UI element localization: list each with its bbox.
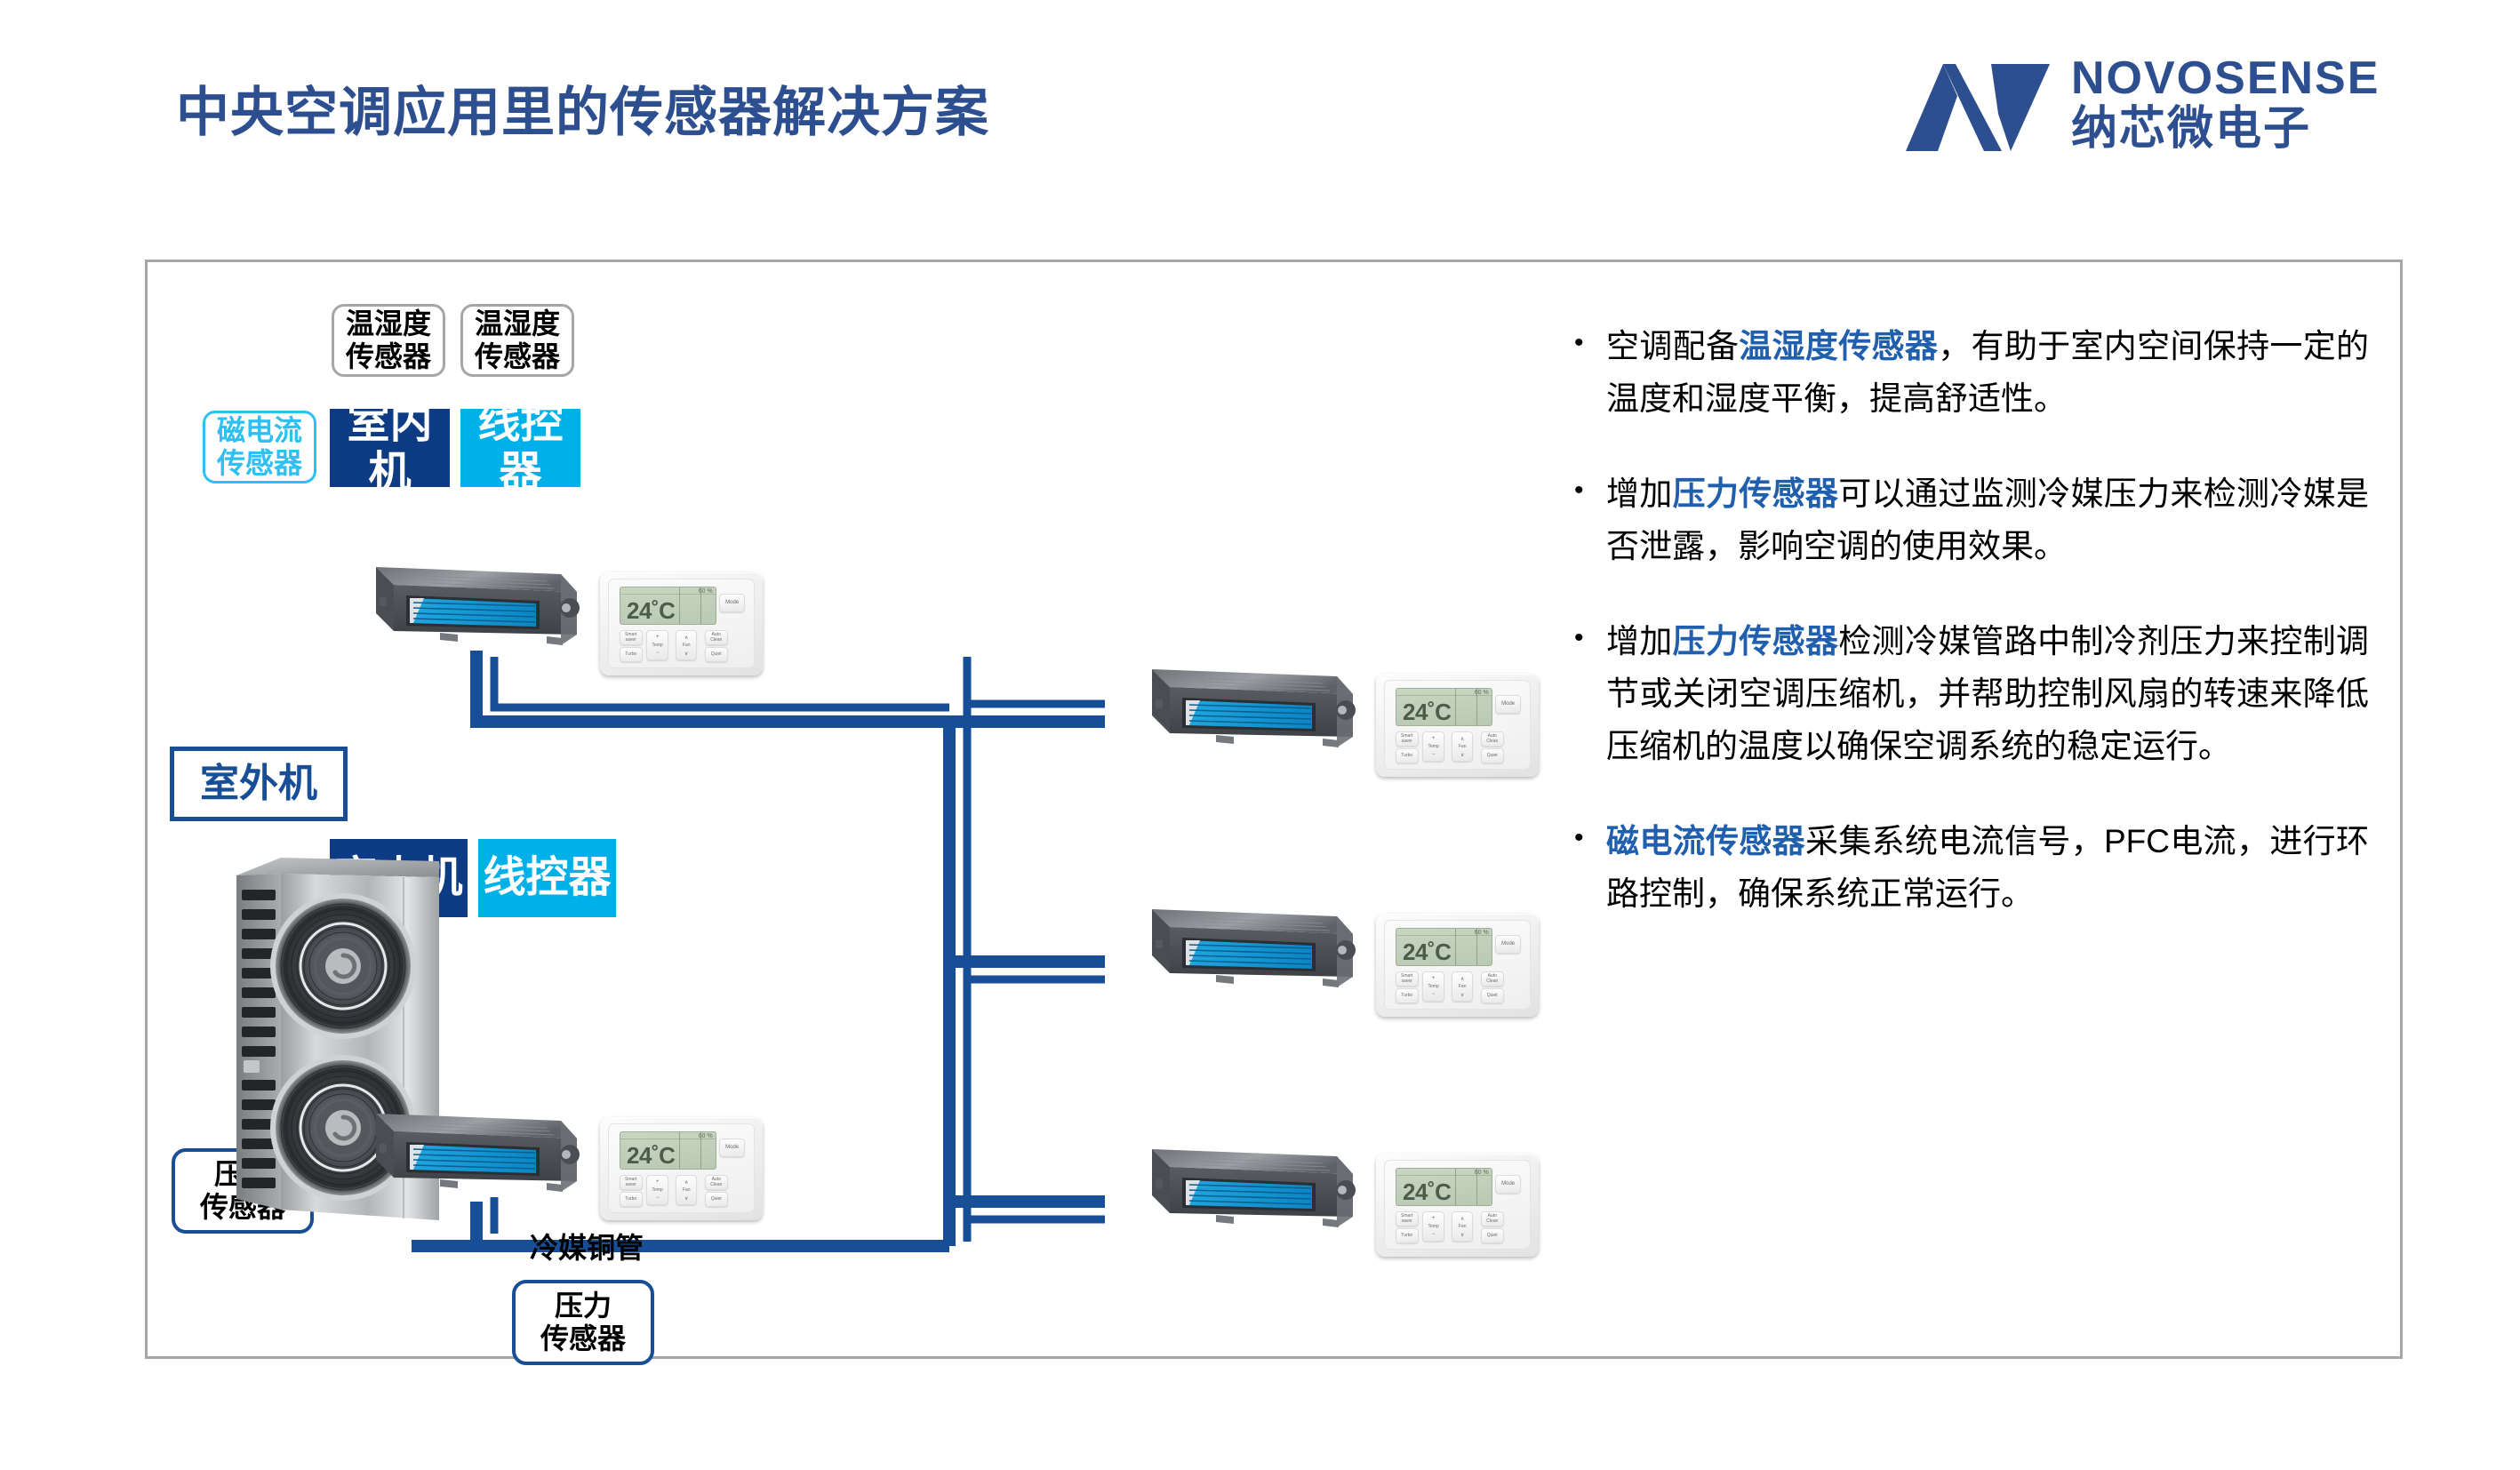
bullet-text: 空调配备温湿度传感器，有助于室内空间保持一定的温度和湿度平衡，提高舒适性。 [1606,320,2369,425]
ducted-indoor-unit [1100,904,1358,1002]
logo-chinese: 纳芯微电子 [2071,103,2380,155]
bullet-dot-icon: • [1569,815,1606,920]
plain-text: 空调配备 [1606,328,1739,364]
fan-up-icon[interactable]: ∧ [1460,736,1464,742]
turbo-button[interactable]: Turbo [1396,1228,1419,1243]
bullet-dot-icon: • [1569,615,1606,772]
temp-up-icon[interactable]: + [656,1179,660,1185]
temp-stepper[interactable]: + Temp − [1422,1211,1444,1242]
temp-down-icon[interactable]: − [656,1195,660,1201]
temp-up-icon[interactable]: + [1432,736,1436,741]
auto-clean-button[interactable]: Auto Clean [705,630,728,645]
wired-controller[interactable]: 60 % 24˚C Mode Smart saver Turbo + Temp … [1376,674,1539,777]
hvac-system-diagram: 温湿度 传感器 温湿度 传感器 磁电流 传感器 室内机 线控器 室内机 线控器 … [145,260,1532,1359]
thermostat-body: 60 % 24˚C Mode Smart saver Turbo + Temp … [1384,1160,1531,1250]
fan-down-icon[interactable]: ∨ [1460,1232,1464,1238]
fan-label: Fan [1459,744,1467,749]
turbo-button[interactable]: Turbo [620,1192,643,1207]
list-item: • 增加压力传感器可以通过监测冷媒压力来检测冷媒是否泄露，影响空调的使用效果。 [1569,467,2369,572]
mode-button[interactable]: Mode [719,594,746,612]
ducted-indoor-unit [324,1108,582,1206]
lcd-humidity: 60 % [1475,930,1489,936]
fan-down-icon[interactable]: ∨ [684,651,688,657]
ducted-indoor-unit [1100,664,1358,762]
temp-stepper[interactable]: + Temp − [646,1175,668,1205]
ducted-indoor-unit [324,562,582,659]
auto-clean-button[interactable]: Auto Clean [705,1175,728,1190]
label-copper-pipe: 冷媒铜管 [511,1228,662,1267]
smart-saver-button[interactable]: Smart saver [620,630,643,645]
wired-controller[interactable]: 60 % 24˚C Mode Smart saver Turbo + Temp … [600,572,763,675]
temp-label: Temp [1428,984,1439,989]
novosense-n-mark-icon [1902,52,2053,155]
lcd-divider-v1 [1455,689,1456,726]
temp-stepper[interactable]: + Temp − [1422,731,1444,762]
fan-stepper[interactable]: ∧ Fan ∨ [1452,971,1473,1002]
auto-clean-button[interactable]: Auto Clean [1481,1211,1504,1226]
temp-up-icon[interactable]: + [1432,976,1436,981]
auto-clean-button[interactable]: Auto Clean [1481,971,1504,987]
fan-up-icon[interactable]: ∧ [684,1179,688,1186]
temp-label: Temp [1428,744,1439,749]
bullet-dot-icon: • [1569,320,1606,425]
quiet-button[interactable]: Quiet [1481,988,1504,1003]
fan-up-icon[interactable]: ∧ [1460,976,1464,982]
feature-bullet-list: • 空调配备温湿度传感器，有助于室内空间保持一定的温度和湿度平衡，提高舒适性。 … [1569,320,2369,963]
fan-stepper[interactable]: ∧ Fan ∨ [1452,731,1473,762]
page-title: 中央空调应用里的传感器解决方案 [176,69,989,147]
temp-stepper[interactable]: + Temp − [1422,971,1444,1002]
thermostat-lcd: 60 % 24˚C [1396,688,1492,727]
temp-down-icon[interactable]: − [1432,992,1436,997]
mode-button[interactable]: Mode [719,1138,746,1157]
ducted-indoor-unit [1100,1144,1358,1242]
fan-down-icon[interactable]: ∨ [684,1195,688,1202]
highlighted-term: 压力传感器 [1673,475,1839,512]
fan-label: Fan [1459,984,1467,989]
fan-label: Fan [1459,1224,1467,1229]
lcd-divider-v1 [1455,1169,1456,1206]
turbo-button[interactable]: Turbo [1396,748,1419,763]
smart-saver-button[interactable]: Smart saver [1396,971,1419,987]
thermostat-body: 60 % 24˚C Mode Smart saver Turbo + Temp … [1384,920,1531,1010]
thermostat-lcd: 60 % 24˚C [620,1131,716,1170]
wired-controller[interactable]: 60 % 24˚C Mode Smart saver Turbo + Temp … [1376,1154,1539,1257]
logo-text: NOVOSENSE 纳芯微电子 [2071,53,2380,155]
turbo-button[interactable]: Turbo [1396,988,1419,1003]
label-wired-controller-2: 线控器 [478,839,616,917]
fan-up-icon[interactable]: ∧ [684,635,688,641]
quiet-button[interactable]: Quiet [1481,1228,1504,1243]
temp-label: Temp [652,1187,663,1193]
thermostat-body: 60 % 24˚C Mode Smart saver Turbo + Temp … [608,1123,755,1213]
label-pressure-sensor-pipe: 压力 传感器 [512,1280,654,1365]
auto-clean-button[interactable]: Auto Clean [1481,731,1504,747]
fan-down-icon[interactable]: ∨ [1460,752,1464,758]
lcd-temperature: 24˚C [627,1142,675,1170]
fan-stepper[interactable]: ∧ Fan ∨ [676,630,697,660]
thermostat-body: 60 % 24˚C Mode Smart saver Turbo + Temp … [1384,680,1531,770]
bullet-dot-icon: • [1569,467,1606,572]
label-wired-controller-1: 线控器 [460,409,580,487]
smart-saver-button[interactable]: Smart saver [1396,1211,1419,1226]
fan-stepper[interactable]: ∧ Fan ∨ [1452,1211,1473,1242]
label-temp-humidity-sensor-2: 温湿度 传感器 [460,304,574,377]
logo-english: NOVOSENSE [2071,53,2380,103]
thermostat-lcd: 60 % 24˚C [1396,1168,1492,1207]
lcd-temperature: 24˚C [1403,1178,1451,1206]
lcd-divider-v1 [1455,929,1456,966]
smart-saver-button[interactable]: Smart saver [1396,731,1419,747]
lcd-temperature: 24˚C [1403,699,1451,726]
list-item: • 增加压力传感器检测冷媒管路中制冷剂压力来控制调节或关闭空调压缩机，并帮助控制… [1569,615,2369,772]
wired-controller[interactable]: 60 % 24˚C Mode Smart saver Turbo + Temp … [600,1117,763,1220]
lcd-humidity: 60 % [1475,1170,1489,1176]
lcd-divider-v1 [679,1132,680,1170]
mode-button[interactable]: Mode [1495,935,1522,954]
lcd-temperature: 24˚C [627,597,675,625]
smart-saver-button[interactable]: Smart saver [620,1175,643,1190]
plain-text: 增加 [1606,623,1673,659]
mode-button[interactable]: Mode [1495,1175,1522,1194]
mode-button[interactable]: Mode [1495,695,1522,714]
bullet-text: 增加压力传感器可以通过监测冷媒压力来检测冷媒是否泄露，影响空调的使用效果。 [1606,467,2369,572]
lcd-humidity: 60 % [699,1133,713,1139]
wired-controller[interactable]: 60 % 24˚C Mode Smart saver Turbo + Temp … [1376,914,1539,1017]
label-magnetic-current-sensor: 磁电流 传感器 [203,411,316,483]
quiet-button[interactable]: Quiet [705,647,728,662]
temp-label: Temp [652,643,663,648]
bullet-text: 增加压力传感器检测冷媒管路中制冷剂压力来控制调节或关闭空调压缩机，并帮助控制风扇… [1606,615,2369,772]
fan-down-icon[interactable]: ∨ [1460,992,1464,998]
lcd-temperature: 24˚C [1403,939,1451,966]
thermostat-body: 60 % 24˚C Mode Smart saver Turbo + Temp … [608,579,755,668]
lcd-humidity: 60 % [1475,690,1489,696]
quiet-button[interactable]: Quiet [1481,748,1504,763]
lcd-divider-v1 [679,587,680,625]
temp-down-icon[interactable]: − [1432,1232,1436,1237]
label-outdoor-unit: 室外机 [170,747,348,821]
fan-stepper[interactable]: ∧ Fan ∨ [676,1175,697,1205]
fan-label: Fan [683,643,691,648]
list-item: • 磁电流传感器采集系统电流信号，PFC电流，进行环路控制，确保系统正常运行。 [1569,815,2369,920]
thermostat-lcd: 60 % 24˚C [620,587,716,626]
label-temp-humidity-sensor-1: 温湿度 传感器 [332,304,445,377]
temp-stepper[interactable]: + Temp − [646,630,668,660]
turbo-button[interactable]: Turbo [620,647,643,662]
brand-logo: NOVOSENSE 纳芯微电子 [1902,52,2400,155]
temp-down-icon[interactable]: − [1432,752,1436,757]
temp-up-icon[interactable]: + [656,635,660,640]
fan-label: Fan [683,1187,691,1193]
temp-up-icon[interactable]: + [1432,1216,1436,1221]
quiet-button[interactable]: Quiet [705,1192,728,1207]
thermostat-lcd: 60 % 24˚C [1396,928,1492,967]
highlighted-term: 磁电流传感器 [1606,823,1805,859]
temp-down-icon[interactable]: − [656,651,660,656]
plain-text: 增加 [1606,475,1673,512]
bullet-text: 磁电流传感器采集系统电流信号，PFC电流，进行环路控制，确保系统正常运行。 [1606,815,2369,920]
fan-up-icon[interactable]: ∧ [1460,1216,1464,1222]
highlighted-term: 压力传感器 [1673,623,1839,659]
temp-label: Temp [1428,1224,1439,1229]
lcd-humidity: 60 % [699,588,713,595]
label-indoor-unit-1: 室内机 [330,409,450,487]
list-item: • 空调配备温湿度传感器，有助于室内空间保持一定的温度和湿度平衡，提高舒适性。 [1569,320,2369,425]
highlighted-term: 温湿度传感器 [1739,328,1938,364]
